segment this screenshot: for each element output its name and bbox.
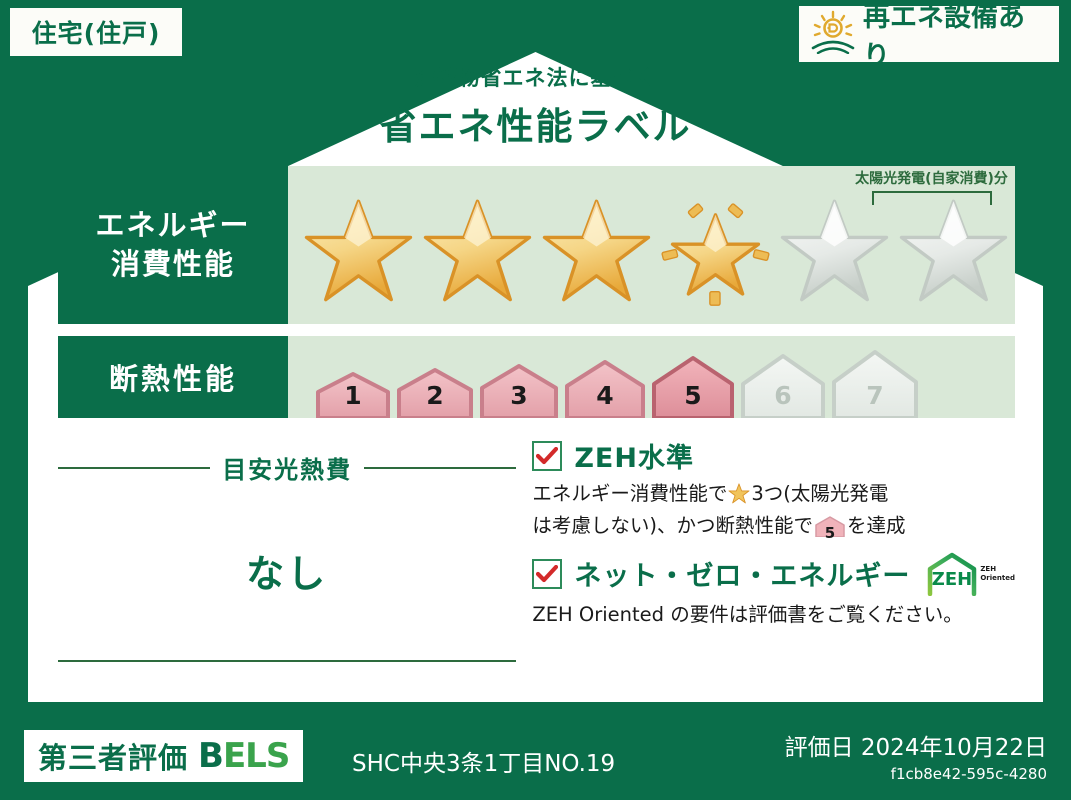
energy-label-line2: 消費性能	[111, 245, 235, 284]
building-name: SHC中央3条1丁目NO.19	[352, 744, 615, 778]
checkbox-checked-icon-zeh-standard	[532, 441, 562, 471]
bels-logo: BELS	[198, 736, 289, 776]
insulation-level-badge-inline: 5	[815, 516, 845, 545]
housing-type-label: 住宅(住戸)	[32, 14, 161, 50]
insulation-level-4: 4	[563, 358, 647, 418]
label-subtitle: 建築物省エネ法に基づく	[0, 62, 1071, 92]
insulation-label-text: 断熱性能	[109, 356, 237, 398]
insulation-levels-area: 1 2 3 4	[288, 336, 1015, 418]
solar-annotation-text: 太陽光発電(自家消費)分	[839, 168, 1024, 188]
zeh-logo-subtext: ZEH Oriented	[980, 565, 1015, 581]
zeh-standard-description: エネルギー消費性能で 3つ(太陽光発電 は考慮しない)、かつ断熱性能で 5 を達…	[532, 480, 1015, 546]
footer-right-info: 評価日 2024年10月22日 f1cb8e42-595c-4280	[785, 728, 1047, 783]
insulation-performance-row: 断熱性能 1	[58, 336, 1015, 418]
star-filled-3	[540, 196, 653, 306]
insulation-level-badge-inline-number: 5	[815, 523, 845, 545]
energy-label-line1: エネルギー	[95, 206, 250, 245]
star-empty-6	[897, 196, 1010, 306]
insulation-level-3-number: 3	[478, 381, 560, 410]
bels-logo-b: B	[198, 736, 223, 776]
evaluation-date: 評価日 2024年10月22日	[785, 728, 1047, 762]
energy-performance-stars-area: 太陽光発電(自家消費)分	[288, 166, 1015, 324]
insulation-level-1-number: 1	[314, 381, 392, 410]
energy-performance-label: エネルギー 消費性能	[58, 166, 288, 324]
label-main-title: 省エネ性能ラベル	[0, 96, 1071, 150]
divider-left	[58, 467, 210, 469]
star-filled-4-solar	[659, 196, 772, 306]
zeh-oriented-logo: ZEH ZEH Oriented	[926, 552, 1015, 596]
housing-type-badge: 住宅(住戸)	[10, 8, 182, 56]
insulation-level-2-number: 2	[395, 381, 475, 410]
zeh-logo-sub-line1: ZEH	[980, 565, 996, 573]
net-zero-energy-title: ネット・ゼロ・エネルギー	[574, 554, 910, 593]
zeh-desc-part-d: を達成	[847, 514, 906, 537]
zeh-standard-heading: ZEH水準	[532, 436, 1015, 475]
third-party-evaluation-label: 第三者評価	[38, 735, 188, 777]
energy-label-root: 住宅(住戸) 再エネ設備あり 建築	[0, 0, 1071, 800]
insulation-level-7-inactive: 7	[830, 348, 920, 418]
star-filled-1	[302, 196, 415, 306]
zeh-desc-part-c: は考慮しない)、かつ断熱性能で	[532, 514, 813, 537]
net-zero-energy-description: ZEH Oriented の要件は評価書をご覧ください。	[532, 601, 1015, 629]
zeh-desc-part-b: 3つ(太陽光発電	[751, 482, 888, 505]
insulation-level-4-number: 4	[563, 381, 647, 410]
zeh-standard-block: ZEH水準 エネルギー消費性能で 3つ(太陽光発電 は考慮しない)、かつ断熱性能…	[532, 436, 1015, 546]
zeh-standard-title: ZEH水準	[574, 436, 694, 475]
star-filled-2	[421, 196, 534, 306]
insulation-level-2: 2	[395, 366, 475, 418]
bels-logo-els: ELS	[223, 736, 289, 776]
insulation-level-5-number: 5	[650, 381, 736, 410]
net-zero-energy-block: ネット・ゼロ・エネルギー ZEH ZEH	[532, 552, 1015, 629]
insulation-level-7-number: 7	[830, 381, 920, 410]
evaluation-id: f1cb8e42-595c-4280	[785, 765, 1047, 783]
utility-cost-value: なし	[58, 543, 516, 598]
utility-cost-heading: 目安光熱費	[58, 450, 516, 485]
star-icon-inline	[728, 483, 750, 512]
divider-right	[364, 467, 516, 469]
zeh-desc-part-a: エネルギー消費性能で	[532, 482, 727, 505]
star-rating	[302, 196, 1010, 306]
zeh-section: ZEH水準 エネルギー消費性能で 3つ(太陽光発電 は考慮しない)、かつ断熱性能…	[516, 436, 1015, 686]
zeh-logo-text: ZEH	[932, 569, 972, 590]
insulation-performance-label: 断熱性能	[58, 336, 288, 418]
label-footer: 第三者評価 BELS SHC中央3条1丁目NO.19 評価日 2024年10月2…	[0, 714, 1071, 800]
label-title-block: 建築物省エネ法に基づく 省エネ性能ラベル	[0, 62, 1071, 150]
renewable-equipment-badge: 再エネ設備あり	[799, 6, 1059, 62]
insulation-level-5-achieved: 5	[650, 354, 736, 418]
checkbox-checked-icon-net-zero	[532, 559, 562, 589]
sun-plug-icon	[809, 10, 857, 58]
utility-cost-heading-text: 目安光熱費	[222, 450, 352, 485]
insulation-level-list: 1 2 3 4	[314, 348, 920, 418]
zeh-logo-sub-line2: Oriented	[980, 574, 1015, 582]
insulation-level-3: 3	[478, 362, 560, 418]
bels-badge: 第三者評価 BELS	[24, 730, 303, 782]
lower-content: 目安光熱費 なし ZEH水準 エネルギー消費性能で	[58, 436, 1015, 686]
utility-cost-section: 目安光熱費 なし	[58, 436, 516, 686]
star-empty-5	[778, 196, 891, 306]
insulation-level-6-inactive: 6	[739, 352, 827, 418]
utility-bottom-rule	[58, 660, 516, 662]
net-zero-energy-heading: ネット・ゼロ・エネルギー ZEH ZEH	[532, 552, 1015, 596]
energy-performance-row: エネルギー 消費性能 太陽光発電(自家消費)分	[58, 166, 1015, 324]
insulation-level-1: 1	[314, 370, 392, 418]
insulation-level-6-number: 6	[739, 381, 827, 410]
